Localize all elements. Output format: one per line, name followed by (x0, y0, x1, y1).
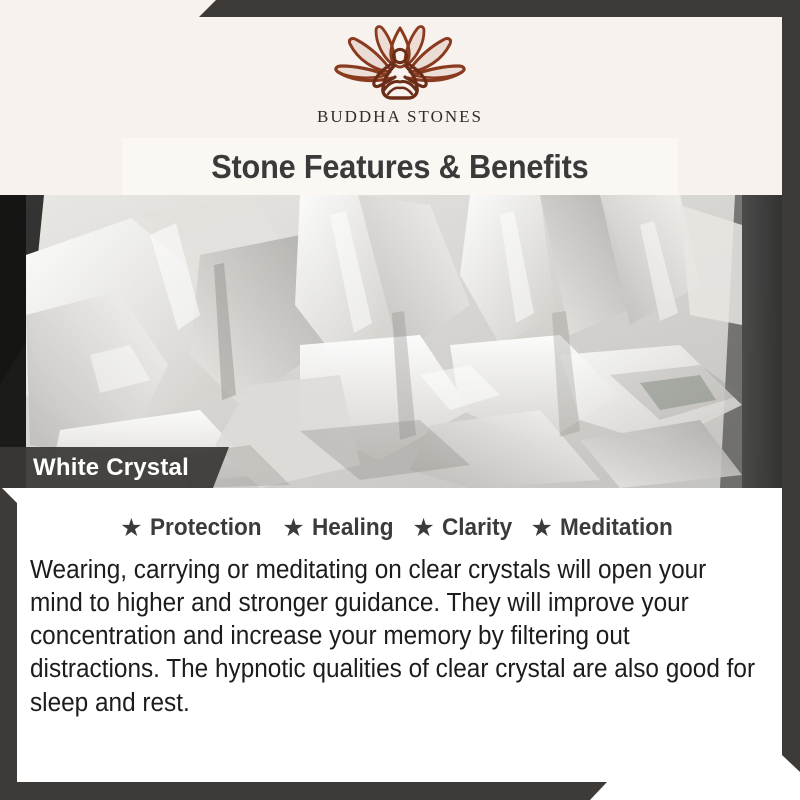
title-banner: Stone Features & Benefits (122, 138, 678, 195)
star-icon: ★ (412, 516, 434, 541)
benefit-label: Meditation (560, 514, 673, 542)
benefit-item: ★ Meditation (530, 514, 679, 542)
crystal-photo: White Crystal (0, 195, 800, 488)
star-icon: ★ (120, 516, 142, 541)
benefit-label: Healing (312, 514, 393, 542)
brand-logo: BUDDHA STONES (0, 22, 800, 127)
header: BUDDHA STONES Stone Features & Benefits (0, 0, 800, 195)
benefits-row: ★ Protection ★ Healing ★ Clarity ★ Medit… (30, 492, 770, 551)
benefit-label: Clarity (442, 514, 512, 542)
benefit-item: ★ Healing (282, 514, 398, 542)
benefit-item: ★ Protection (120, 514, 268, 542)
description-text: Wearing, carrying or meditating on clear… (30, 551, 765, 720)
page-title: Stone Features & Benefits (211, 148, 588, 186)
crystal-photo-image (0, 195, 800, 488)
benefit-label: Protection (150, 514, 262, 542)
benefit-item: ★ Clarity (412, 514, 516, 542)
lotus-meditation-icon (324, 22, 476, 102)
star-icon: ★ (530, 516, 552, 541)
content-panel: ★ Protection ★ Healing ★ Clarity ★ Medit… (0, 488, 800, 800)
stone-label-badge: White Crystal (0, 447, 229, 488)
stone-label-text: White Crystal (33, 454, 189, 482)
star-icon: ★ (282, 516, 304, 541)
brand-name: BUDDHA STONES (317, 107, 483, 127)
